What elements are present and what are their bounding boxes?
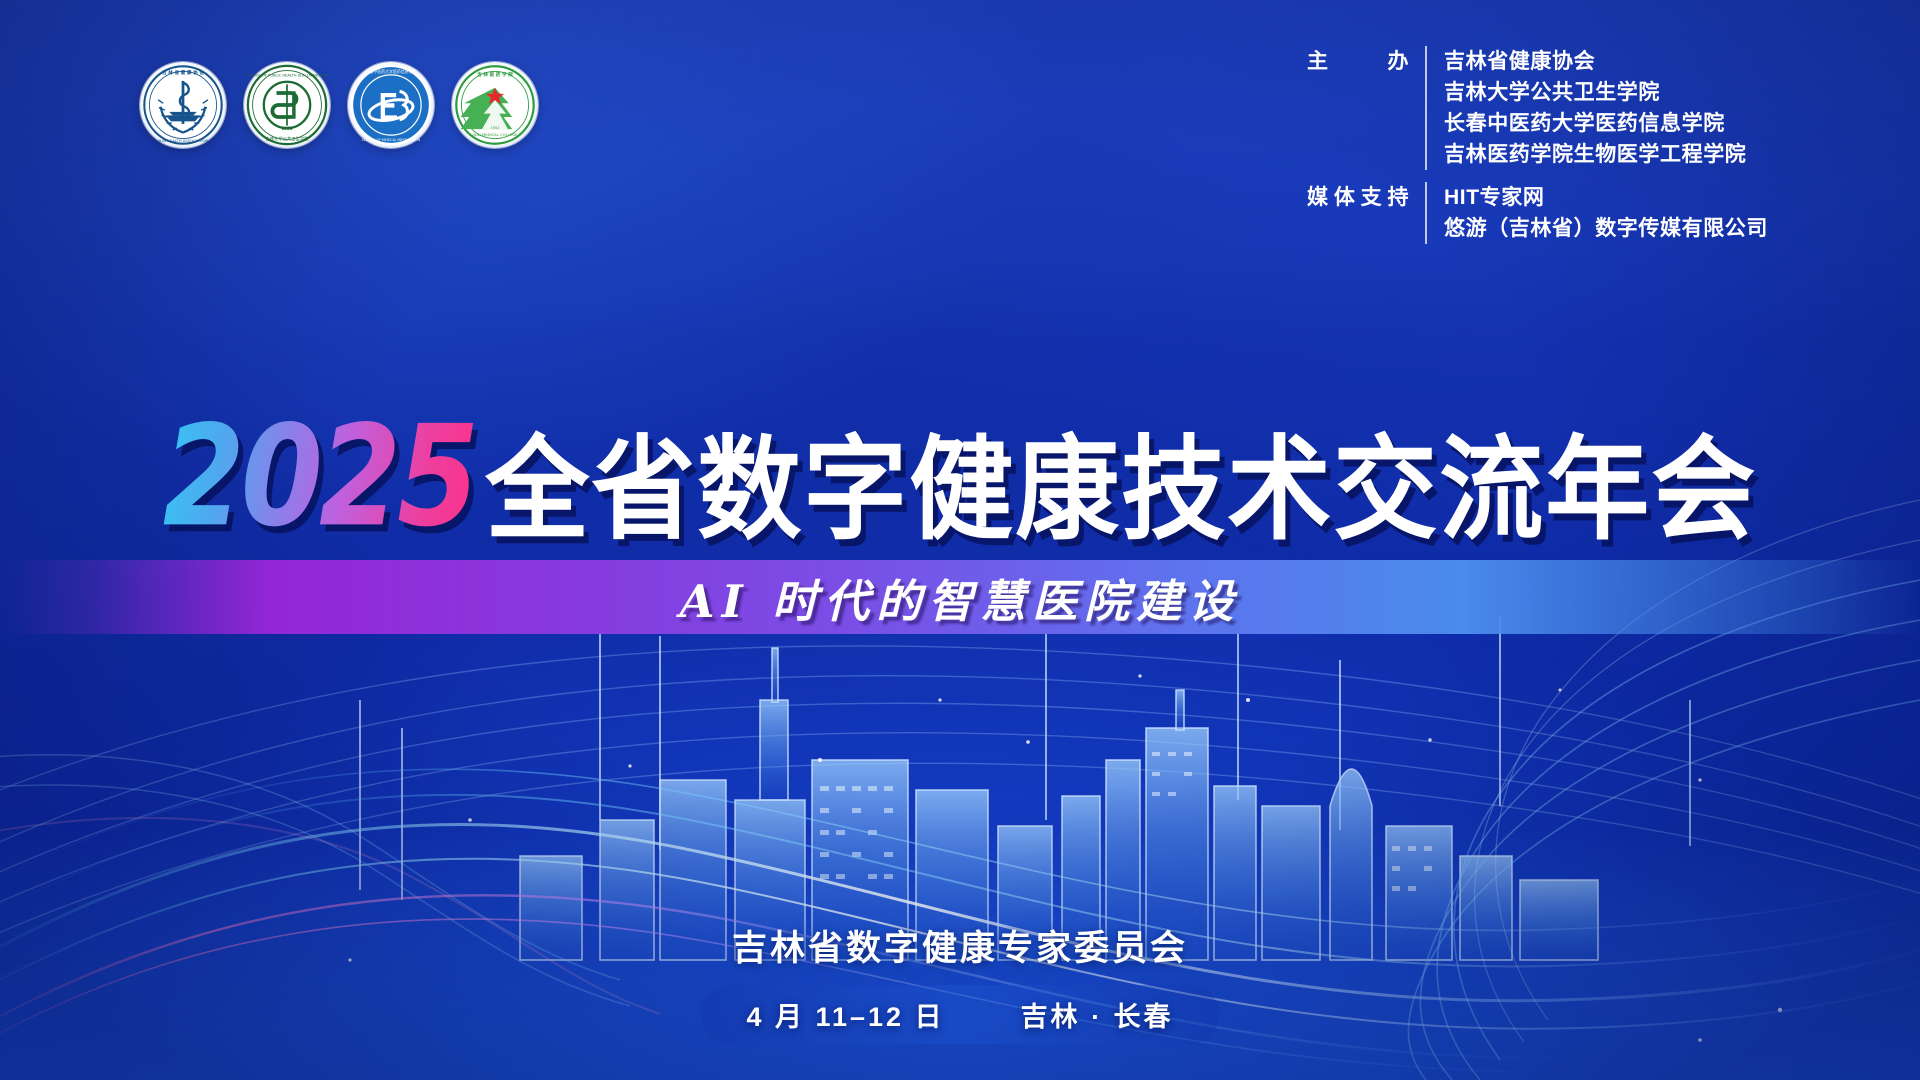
credit-label-host: 主办	[1307, 46, 1425, 77]
credit-item: 悠游（吉林省）数字传媒有限公司	[1444, 213, 1768, 244]
jilin-university-public-health-emblem: SCHOOL OF PUBLIC HEALTH JILIN UNIVERSITY…	[244, 62, 330, 148]
credit-divider	[1425, 182, 1427, 244]
credit-items-media: HIT专家网 悠游（吉林省）数字传媒有限公司	[1444, 182, 1768, 244]
organizer-logo-row: 吉 林 省 健 康 协 会 JILIN HEALTH ASSOCIATION S…	[140, 62, 538, 148]
credit-item: 长春中医药大学医药信息学院	[1444, 108, 1746, 139]
jilin-medical-college-emblem: 吉 林 医 药 学 院 JILIN MEDICAL COLLEGE 1952	[452, 62, 538, 148]
credit-divider	[1425, 46, 1427, 170]
changchun-chinese-medicine-university-emblem: 长春中医药大学医药信息学院 SCHOOL OF MEDICAL INFORMAT…	[348, 62, 434, 148]
credit-items-host: 吉林省健康协会 吉林大学公共卫生学院 长春中医药大学医药信息学院 吉林医药学院生…	[1444, 46, 1746, 170]
committee-name: 吉林省数字健康专家委员会	[0, 920, 1920, 971]
credit-item: 吉林大学公共卫生学院	[1444, 77, 1746, 108]
credit-item: 吉林省健康协会	[1444, 46, 1746, 77]
credit-group-host: 主办 吉林省健康协会 吉林大学公共卫生学院 长春中医药大学医药信息学院 吉林医药…	[1307, 46, 1768, 170]
conference-banner: 吉 林 省 健 康 协 会 JILIN HEALTH ASSOCIATION S…	[0, 0, 1920, 1080]
credits-block: 主办 吉林省健康协会 吉林大学公共卫生学院 长春中医药大学医药信息学院 吉林医药…	[1307, 46, 1768, 244]
subtitle-text: AI 时代的智慧医院建设	[680, 565, 1241, 630]
event-meta-pill: 4 月 11–12 日 吉林 · 长春	[700, 985, 1219, 1044]
credit-group-media: 媒体支持 HIT专家网 悠游（吉林省）数字传媒有限公司	[1307, 182, 1768, 244]
title-main: 全省数字健康技术交流年会	[485, 434, 1757, 546]
event-date: 4 月 11–12 日	[746, 995, 944, 1034]
event-location: 吉林 · 长春	[1021, 995, 1174, 1034]
svg-text:JILIN MEDICAL COLLEGE: JILIN MEDICAL COLLEGE	[471, 132, 518, 137]
svg-text:SCHOOL OF PUBLIC HEALTH JILIN: SCHOOL OF PUBLIC HEALTH JILIN UNIVERSITY	[245, 74, 330, 78]
svg-text:SCHOOL OF MEDICAL INFORMATION: SCHOOL OF MEDICAL INFORMATION	[362, 138, 421, 142]
title-block: 2025 全省数字健康技术交流年会	[0, 430, 1920, 548]
credit-item: 吉林医药学院生物医学工程学院	[1444, 139, 1746, 170]
svg-text:1958: 1958	[282, 126, 293, 131]
credit-label-media: 媒体支持	[1307, 182, 1425, 213]
credit-item: HIT专家网	[1444, 182, 1768, 213]
svg-text:长春中医药大学医药信息学院: 长春中医药大学医药信息学院	[365, 69, 416, 74]
svg-text:1952: 1952	[491, 126, 500, 130]
svg-text:JILIN HEALTH ASSOCIATION: JILIN HEALTH ASSOCIATION	[157, 138, 209, 143]
jilin-health-association-emblem: 吉 林 省 健 康 协 会 JILIN HEALTH ASSOCIATION	[140, 62, 226, 148]
title-year: 2025	[163, 406, 485, 545]
subtitle-band: AI 时代的智慧医院建设	[0, 560, 1920, 634]
